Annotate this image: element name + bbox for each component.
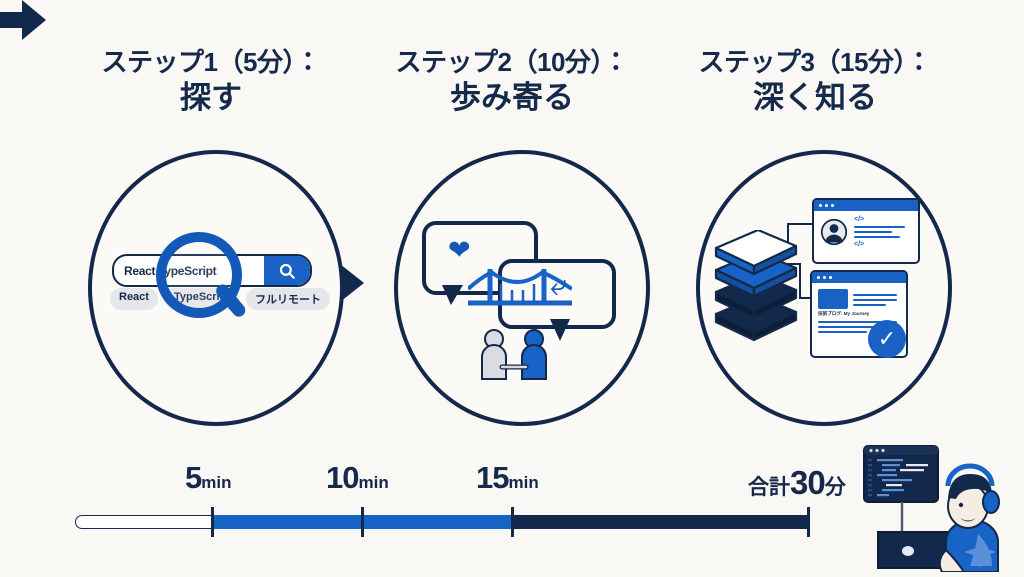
timeline-tick-15min <box>511 507 514 537</box>
speech-bubble-left-tail <box>442 285 463 305</box>
search-icon <box>278 262 296 280</box>
timeline-label-15min: 15min <box>476 462 539 493</box>
person-icon <box>940 466 999 572</box>
window-dot <box>825 204 828 207</box>
step-2-artwork-communication: ❤ ⤷ <box>420 215 620 385</box>
timeline-total-prefix: 合計 <box>748 476 790 499</box>
window-titlebar <box>812 272 906 283</box>
timeline-label-15min-unit: min <box>508 473 538 492</box>
timeline-label-15min-value: 15 <box>476 460 508 495</box>
handshake-icon <box>472 327 568 385</box>
code-tag-bottom: </> <box>854 241 912 248</box>
window-titlebar <box>814 200 918 211</box>
blog-title: 技術ブログ: My Journey <box>818 311 900 317</box>
window-dot <box>817 276 820 279</box>
search-tag-0[interactable]: React <box>110 288 158 310</box>
step-2-heading: ステップ2（10分）： 歩み寄る <box>362 48 662 117</box>
arrow-step2-to-step3 <box>0 0 46 40</box>
timeline-label-10min: 10min <box>326 462 389 493</box>
timeline-bar[interactable] <box>75 515 810 529</box>
step-3-artwork-publish: </> </> <box>706 192 922 382</box>
search-tag-2[interactable]: フルリモート <box>246 288 330 310</box>
step-1-heading: ステップ1（5分）： 探す <box>61 48 361 117</box>
code-tag-top: </> <box>854 216 912 223</box>
window-dot <box>819 204 822 207</box>
database-stack-icon <box>708 230 804 342</box>
laptop-icon <box>878 532 948 568</box>
check-circle-icon: ✓ <box>868 320 906 358</box>
blog-thumbnail <box>818 289 848 309</box>
arrow-step1-to-step2 <box>340 264 364 302</box>
timeline-label-5min-unit: min <box>201 473 231 492</box>
step-1-artwork-search: React TypeScript React TypeScript フルリモート <box>108 246 318 316</box>
step-3-heading-line2: 深く知る <box>665 79 965 118</box>
search-button[interactable] <box>264 256 310 285</box>
check-glyph: ✓ <box>878 328 896 350</box>
search-input-value: React TypeScript <box>114 264 216 278</box>
infographic-canvas: ステップ1（5分）： 探す ステップ2（10分）： 歩み寄る ステップ3（15分… <box>0 0 1024 572</box>
timeline-label-5min: 5min <box>185 462 231 493</box>
window-dot <box>829 276 832 279</box>
step-1-heading-line1: ステップ1（5分）： <box>61 48 361 77</box>
developer-illustration-svg <box>860 438 1024 572</box>
timeline-total-label: 合計30分 <box>748 466 846 499</box>
timeline-segment-remaining <box>512 515 810 529</box>
user-avatar-icon <box>820 218 848 246</box>
developer-illustration <box>860 438 1024 572</box>
reply-arrow-icon: ⤷ <box>550 271 567 301</box>
step-3-heading-line1: ステップ3（15分）： <box>665 48 965 77</box>
step-3-heading: ステップ3（15分）： 深く知る <box>665 48 965 117</box>
search-tag-1[interactable]: TypeScript <box>165 288 239 310</box>
timeline-label-10min-unit: min <box>358 473 388 492</box>
timeline-label-5min-value: 5 <box>185 460 201 495</box>
timeline-tick-5min <box>211 507 214 537</box>
timeline-tick-10min <box>361 507 364 537</box>
code-window-icon <box>864 446 938 502</box>
search-input[interactable]: React TypeScript <box>112 254 312 287</box>
timeline-total-value: 30 <box>790 464 825 501</box>
timeline-label-10min-value: 10 <box>326 460 358 495</box>
search-tag-list: React TypeScript フルリモート <box>110 288 330 310</box>
step-2-heading-line1: ステップ2（10分）： <box>362 48 662 77</box>
window-dot <box>831 204 834 207</box>
step-1-heading-line2: 探す <box>61 79 361 118</box>
timeline-total-suffix: 分 <box>825 476 846 499</box>
timeline-segment-pending <box>75 515 212 529</box>
profile-code-window: </> </> <box>812 198 920 264</box>
heart-icon: ❤ <box>448 237 471 264</box>
timeline-tick-end <box>807 507 810 537</box>
window-dot <box>823 276 826 279</box>
step-2-heading-line2: 歩み寄る <box>362 79 662 118</box>
